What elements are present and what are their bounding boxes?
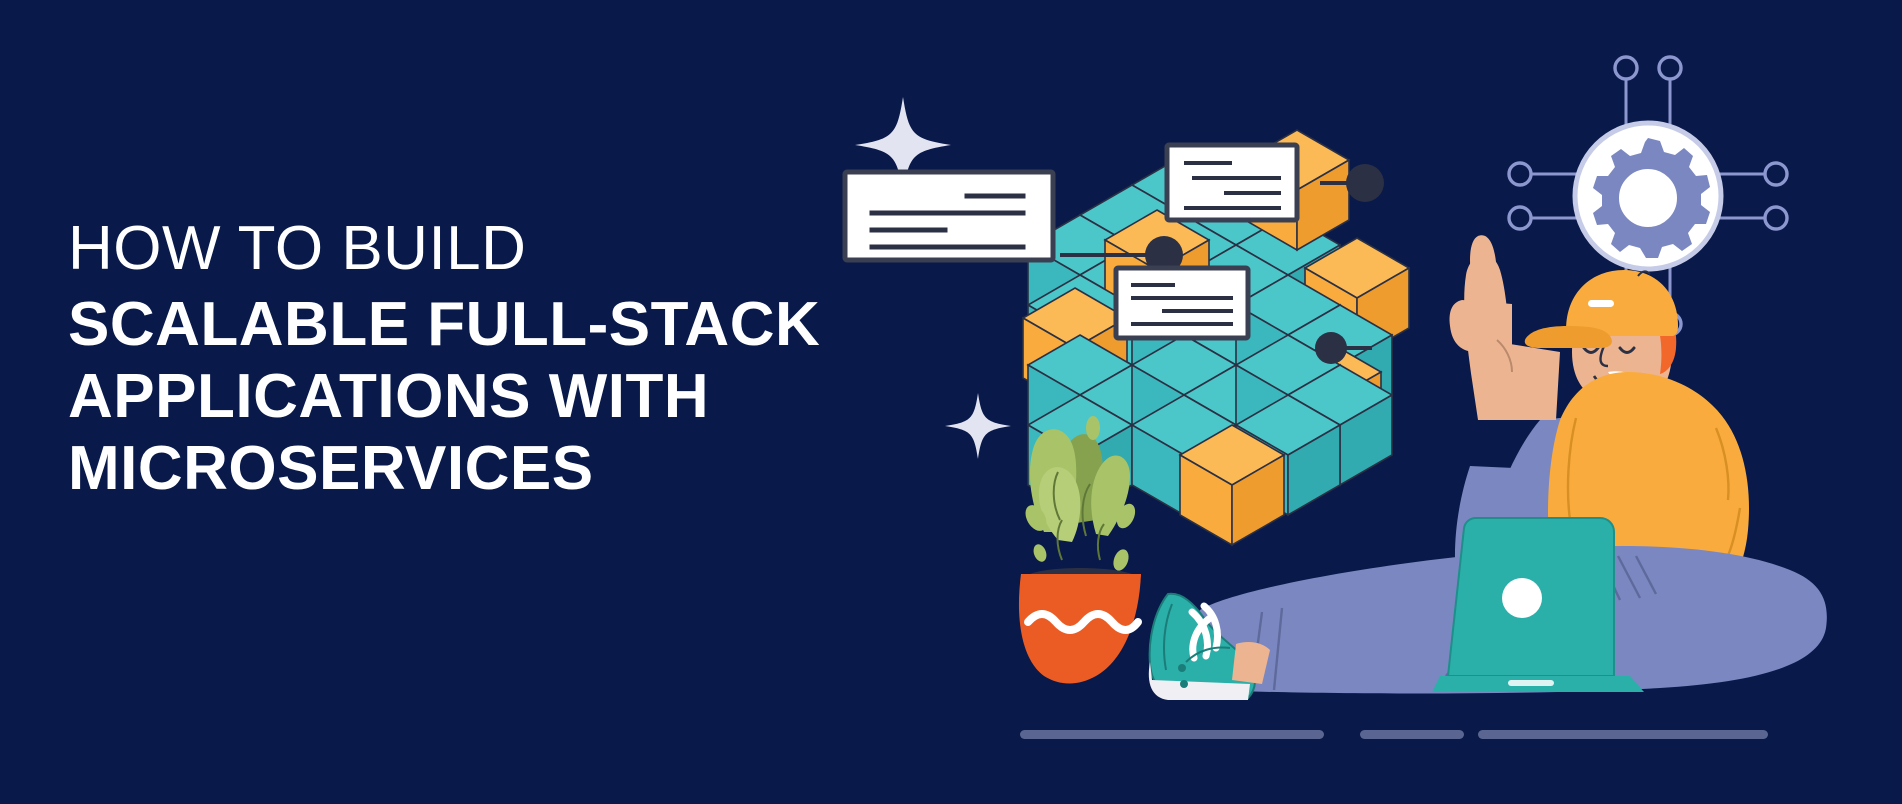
potted-cactus bbox=[1019, 416, 1141, 684]
laptop bbox=[1432, 518, 1644, 692]
headline-line-4: MICROSERVICES bbox=[68, 438, 1008, 500]
wristwatch bbox=[1623, 550, 1675, 616]
connector-dot-top-right bbox=[1346, 164, 1384, 202]
tooltip-card-mid-right bbox=[1116, 268, 1248, 338]
sparkle-top-left bbox=[855, 97, 951, 193]
gear-circuit-icon bbox=[1509, 57, 1787, 335]
tooltip-connector-top-right bbox=[1320, 164, 1384, 202]
headline-line-1: HOW TO BUILD bbox=[68, 218, 1008, 280]
connector-dot-left bbox=[1145, 236, 1183, 274]
ground-line bbox=[1020, 730, 1768, 739]
seated-developer bbox=[1149, 235, 1827, 700]
sneaker bbox=[1149, 594, 1270, 700]
page-title: HOW TO BUILD SCALABLE FULL-STACK APPLICA… bbox=[68, 218, 1008, 510]
isometric-microservices-cube bbox=[1023, 130, 1409, 545]
sparkle-above-character bbox=[1224, 237, 1312, 325]
tooltip-card-top-right bbox=[1167, 145, 1297, 220]
connector-dot-mid-right bbox=[1315, 332, 1347, 364]
character-head bbox=[1525, 270, 1678, 406]
headline-line-3: APPLICATIONS WITH bbox=[68, 366, 1008, 428]
headline-line-2: SCALABLE FULL-STACK bbox=[68, 294, 1008, 356]
banner-root: HOW TO BUILD SCALABLE FULL-STACK APPLICA… bbox=[0, 0, 1902, 804]
tooltip-connector-left bbox=[1060, 236, 1183, 274]
tooltip-connector-mid-right bbox=[1315, 332, 1372, 364]
